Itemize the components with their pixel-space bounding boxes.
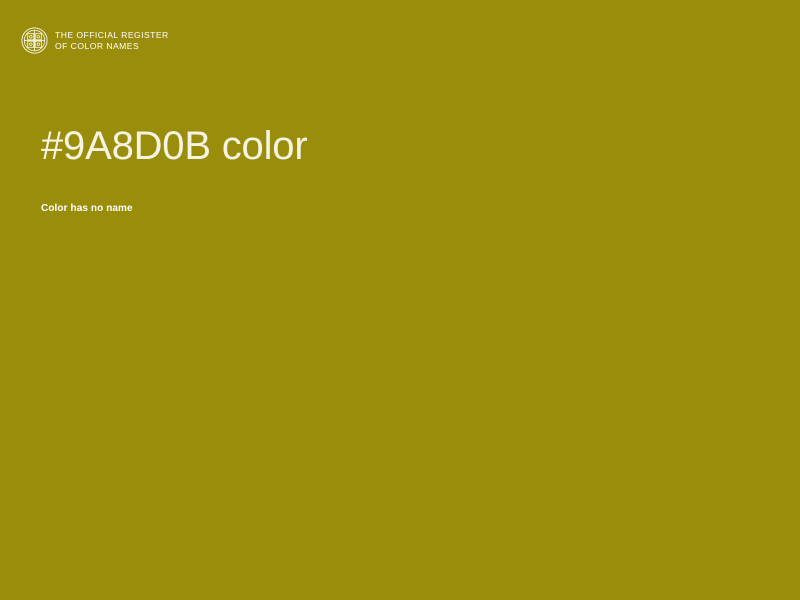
page-title: #9A8D0B color: [41, 120, 741, 172]
brand-wordmark-line-2: OF COLOR NAMES: [55, 41, 169, 51]
register-seal-icon: [21, 27, 48, 54]
color-name-status: Color has no name: [41, 172, 741, 215]
site-brand[interactable]: THE OFFICIAL REGISTER OF COLOR NAMES: [21, 27, 169, 54]
color-detail-page: THE OFFICIAL REGISTER OF COLOR NAMES #9A…: [0, 0, 800, 600]
brand-wordmark-line-1: THE OFFICIAL REGISTER: [55, 30, 169, 40]
brand-wordmark: THE OFFICIAL REGISTER OF COLOR NAMES: [55, 30, 169, 51]
color-swatch-background: [0, 0, 800, 600]
color-info: #9A8D0B color Color has no name: [41, 120, 741, 215]
